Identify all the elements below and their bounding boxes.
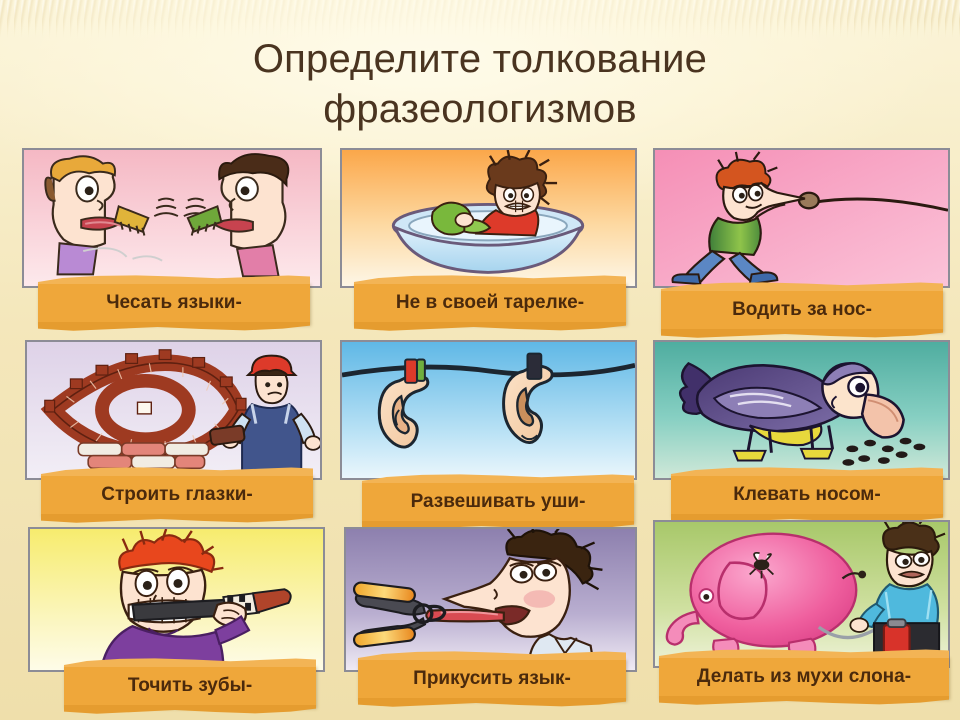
picture-frame — [653, 520, 950, 668]
picture-frame — [22, 148, 322, 288]
card-prikusit-yazyk[interactable]: Прикусить язык- — [344, 527, 644, 707]
picture-frame — [344, 527, 637, 672]
illustration-boy-sitting-in-plate — [342, 150, 635, 286]
label-banner[interactable]: Водить за нос- — [661, 289, 943, 331]
card-klevat-nosom[interactable]: Клевать носом- — [653, 340, 953, 515]
card-label: Развешивать уши- — [362, 481, 634, 523]
label-banner[interactable]: Делать из мухи слона- — [659, 656, 949, 698]
card-label: Точить зубы- — [64, 665, 316, 707]
label-banner[interactable]: Строить глазки- — [41, 474, 313, 516]
card-label: Чесать языки- — [38, 282, 310, 324]
label-banner[interactable]: Клевать носом- — [671, 474, 943, 516]
card-tochit-zuby[interactable]: Точить зубы- — [28, 527, 328, 707]
card-label: Делать из мухи слона- — [659, 656, 949, 698]
card-label: Строить глазки- — [41, 474, 313, 516]
card-chesat-yazyki[interactable]: Чесать языки- — [22, 148, 322, 323]
card-delat-iz-muhi-slona[interactable]: Делать из мухи слона- — [653, 520, 953, 705]
card-ne-v-svoey-tarelke[interactable]: Не в своей тарелке- — [340, 148, 640, 323]
picture-frame — [340, 340, 637, 480]
label-banner[interactable]: Точить зубы- — [64, 665, 316, 707]
card-razveshivat-ushi[interactable]: Развешивать уши- — [340, 340, 640, 515]
illustration-pink-elephant-and-man-with-pump — [655, 522, 948, 666]
label-banner[interactable]: Прикусить язык- — [358, 658, 626, 700]
label-banner[interactable]: Чесать языки- — [38, 282, 310, 324]
label-banner[interactable]: Не в своей тарелке- — [354, 282, 626, 324]
label-banner[interactable]: Развешивать уши- — [362, 481, 634, 523]
picture-frame — [28, 527, 325, 672]
picture-frame — [653, 340, 950, 480]
slide-canvas: Определите толкование фразеологизмов — [0, 0, 960, 720]
illustration-bird-pecking-grain — [655, 342, 948, 478]
picture-frame — [653, 148, 950, 288]
illustration-two-faces-brushing-tongues — [24, 150, 320, 286]
card-label: Клевать носом- — [671, 474, 943, 516]
card-label: Водить за нос- — [661, 289, 943, 331]
illustration-man-led-by-nose-on-rope — [655, 150, 948, 286]
illustration-ears-hanging-on-clothesline — [342, 342, 635, 478]
card-label: Не в своей тарелке- — [354, 282, 626, 324]
picture-frame — [340, 148, 637, 288]
picture-frame — [25, 340, 322, 480]
card-label: Прикусить язык- — [358, 658, 626, 700]
card-vodit-za-nos[interactable]: Водить за нос- — [653, 148, 953, 323]
page-title: Определите толкование фразеологизмов — [0, 34, 960, 134]
illustration-pliers-on-tongue — [346, 529, 635, 670]
illustration-brick-eye-and-builder — [27, 342, 320, 478]
illustration-boy-filing-teeth — [30, 529, 323, 670]
card-stroit-glazki[interactable]: Строить глазки- — [25, 340, 325, 515]
